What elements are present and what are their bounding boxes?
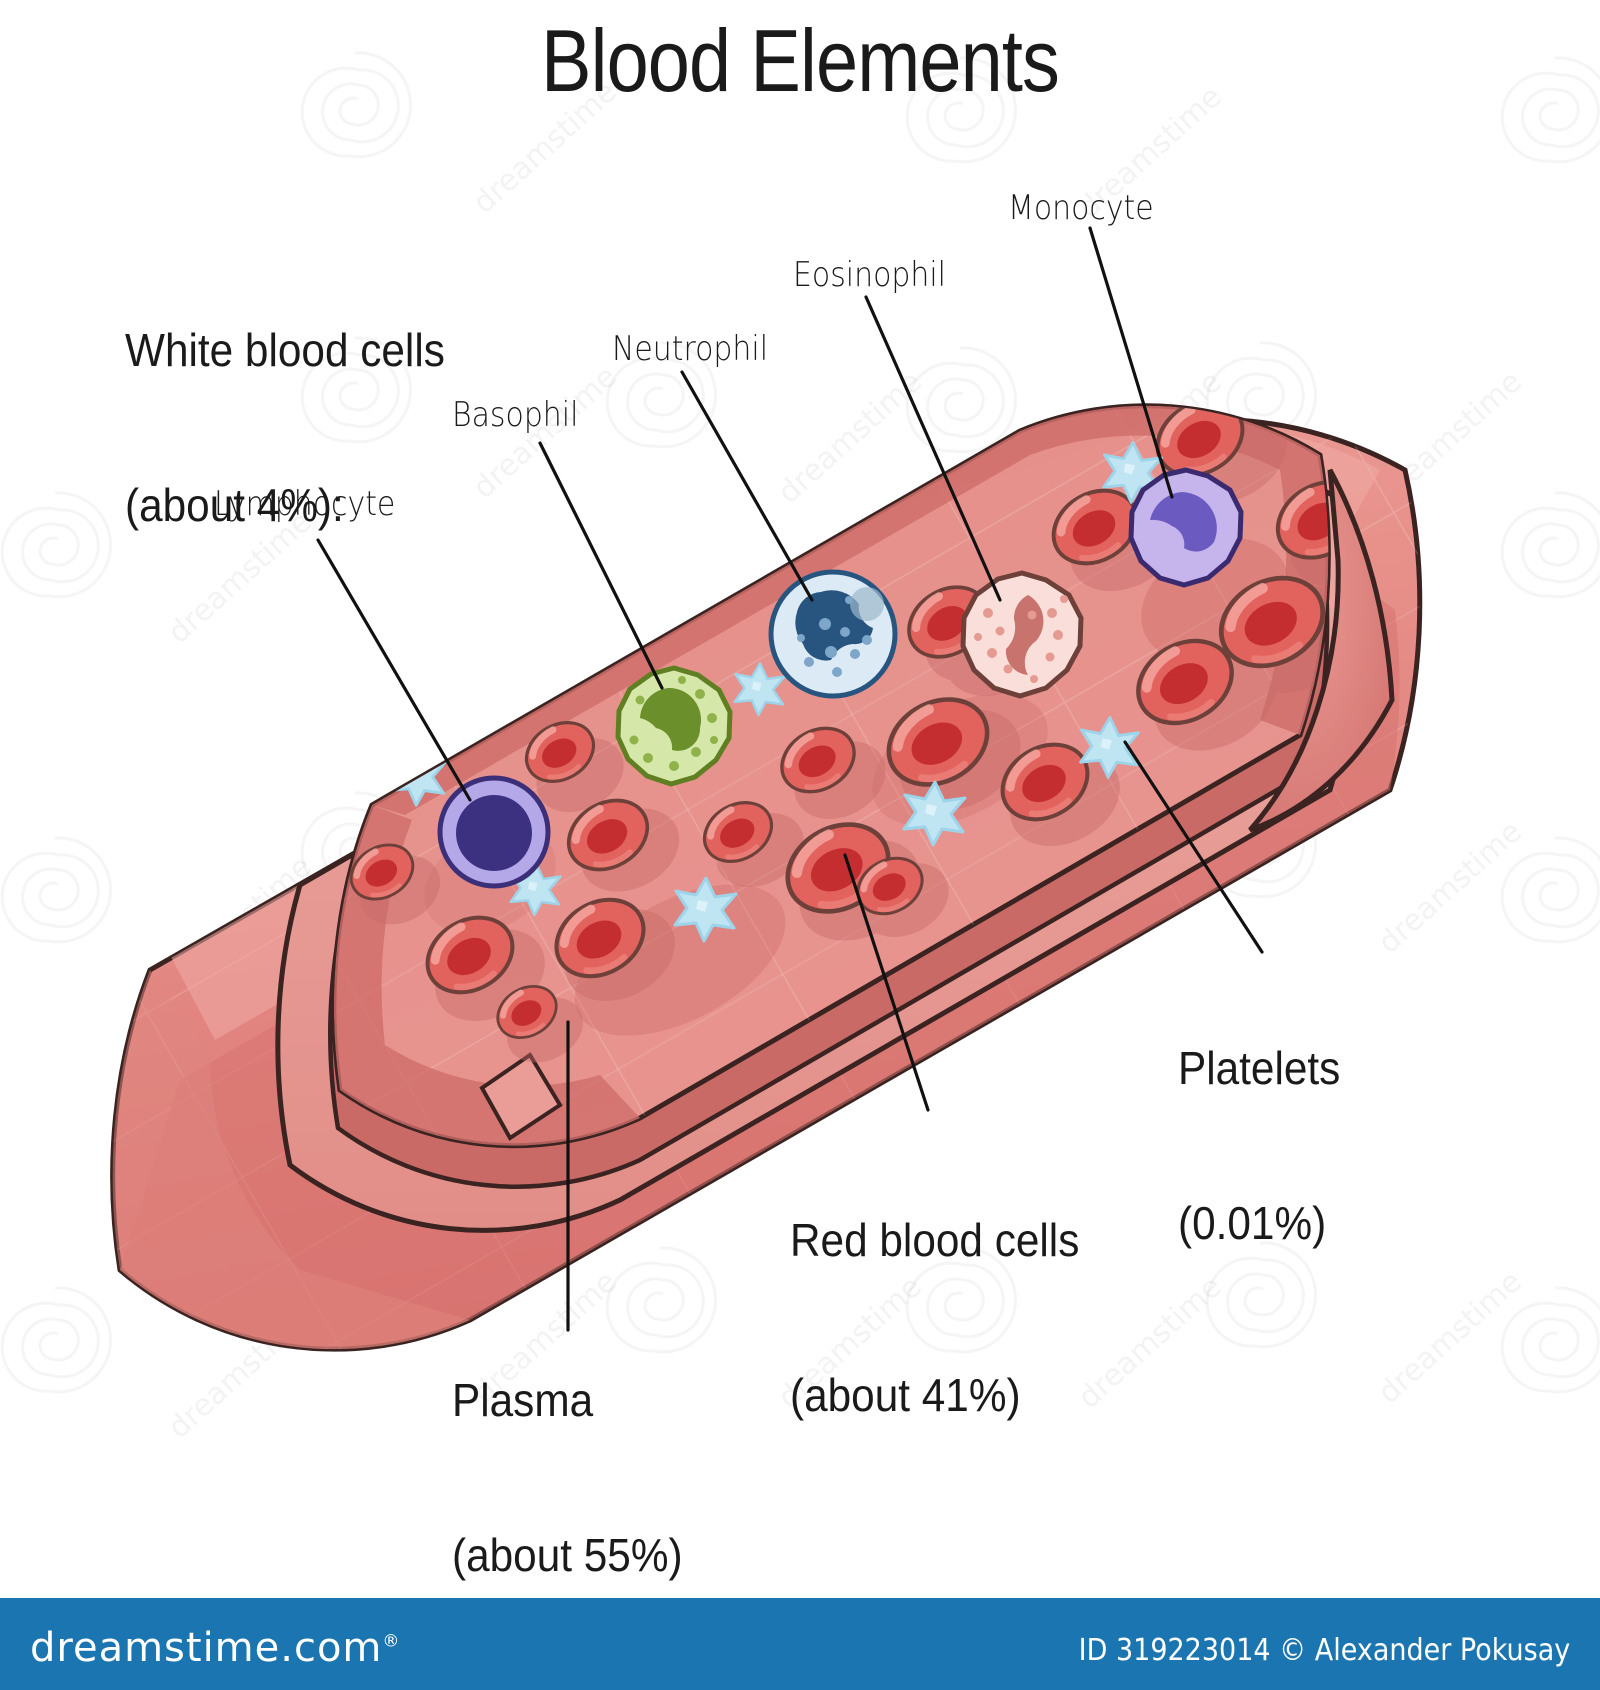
- label-lymphocyte: Lymphocyte: [214, 484, 395, 524]
- neutrophil-cell: [771, 572, 895, 696]
- platelets-label-line1: Platelets: [1178, 1043, 1340, 1095]
- label-red-blood-cells: Red blood cells (about 41%): [790, 1112, 1079, 1524]
- label-monocyte: Monocyte: [1008, 188, 1154, 228]
- label-eosinophil: Eosinophil: [793, 255, 946, 295]
- diagram-canvas: dreamstime dreamstime dreamstime dreamst…: [0, 0, 1600, 1690]
- plasma-label-line1: Plasma: [452, 1375, 683, 1427]
- dreamstime-logo[interactable]: dreamstime.com®: [30, 1625, 400, 1671]
- image-credit: ID 319223014 © Alexander Pokusay: [1078, 1633, 1570, 1668]
- rbc-label-line2: (about 41%): [790, 1370, 1079, 1422]
- dreamstime-logo-text: dreamstime.com: [30, 1625, 382, 1671]
- registered-trademark-icon: ®: [382, 1632, 400, 1652]
- plasma-label-line2: (about 55%): [452, 1530, 683, 1582]
- leader-neutrophil: [682, 372, 812, 600]
- rbc-label-line1: Red blood cells: [790, 1215, 1079, 1267]
- label-neutrophil: Neutrophil: [612, 329, 768, 369]
- label-white-blood-cells: White blood cells (about 4%):: [125, 222, 445, 634]
- label-basophil: Basophil: [452, 395, 578, 435]
- page-title: Blood Elements: [112, 10, 1488, 112]
- leader-basophil: [540, 443, 662, 688]
- platelets-label-line2: (0.01%): [1178, 1198, 1340, 1250]
- wbc-label-line1: White blood cells: [125, 325, 445, 377]
- lymphocyte-cell: [440, 778, 548, 886]
- label-platelets: Platelets (0.01%): [1178, 940, 1340, 1352]
